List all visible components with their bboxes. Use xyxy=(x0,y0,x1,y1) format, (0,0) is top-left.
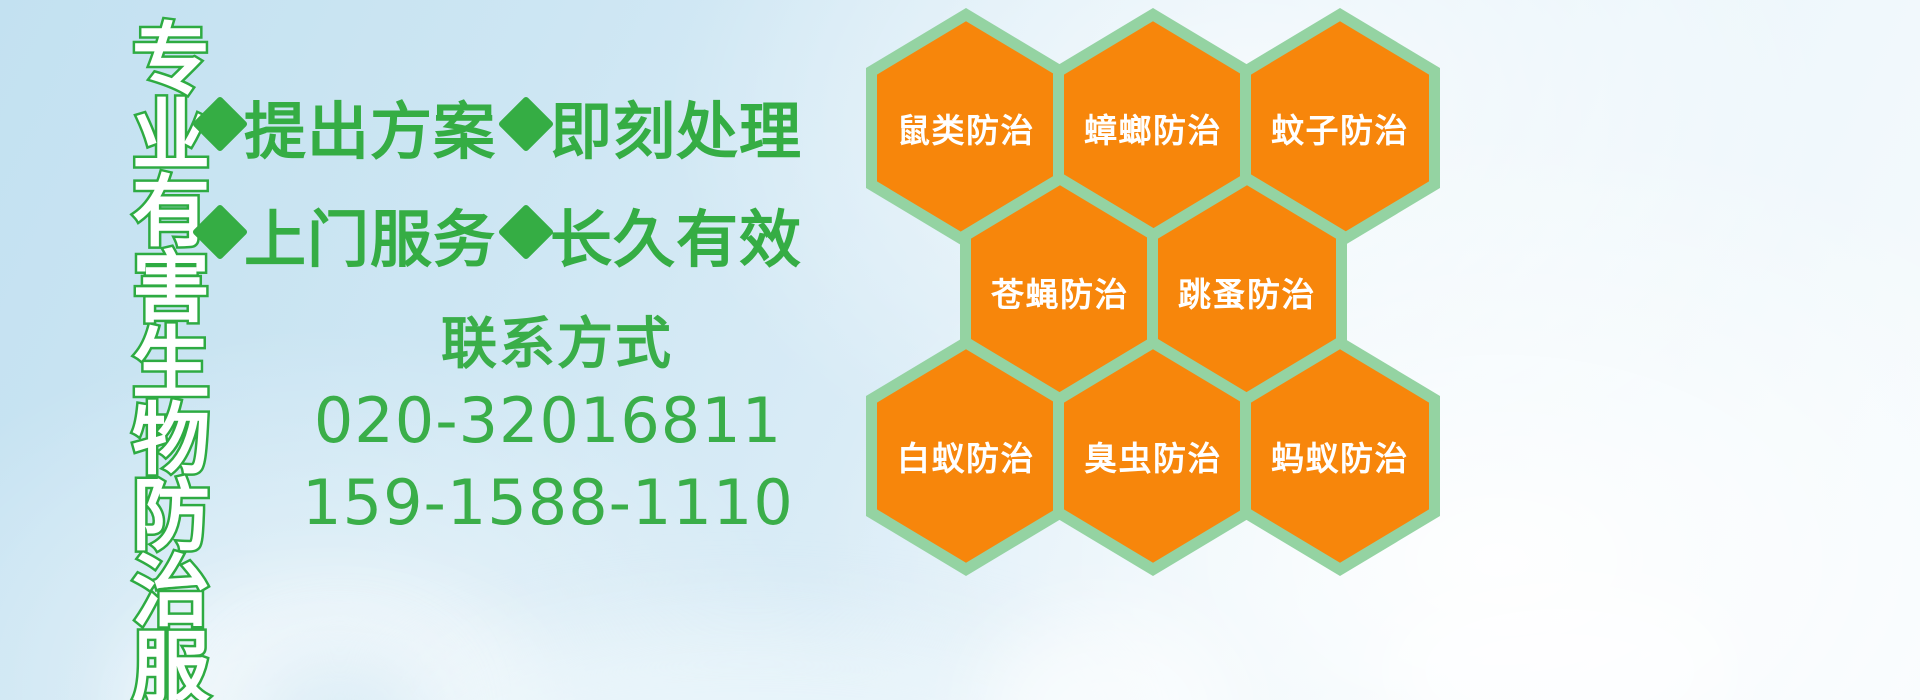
contact-title: 联系方式 xyxy=(246,310,868,380)
feature-item-immediate-handling: 即刻处理 xyxy=(534,101,802,163)
banner-stage: 专业有害生物防治服务 提出方案 即刻处理 上门服务 长久有效 联 xyxy=(0,0,1920,700)
feature-list: 提出方案 即刻处理 上门服务 长久有效 xyxy=(228,78,868,294)
phone-landline[interactable]: 020-32016811 xyxy=(228,380,868,462)
hexagon-label: 臭虫防治 xyxy=(1053,336,1253,576)
feature-item-propose-plan: 提出方案 xyxy=(228,101,496,163)
hex-termite-control[interactable]: 白蚁防治 xyxy=(866,336,1066,576)
vertical-headline: 专业有害生物防治服务 xyxy=(108,18,204,678)
contact-block: 联系方式 020-32016811 159-1588-1110 xyxy=(228,310,868,544)
phone-mobile[interactable]: 159-1588-1110 xyxy=(228,462,868,544)
feature-row: 提出方案 即刻处理 xyxy=(228,78,868,186)
background-glow-c xyxy=(980,610,1240,700)
hex-ant-control[interactable]: 蚂蚁防治 xyxy=(1240,336,1440,576)
feature-label: 提出方案 xyxy=(244,101,496,163)
feature-item-onsite-service: 上门服务 xyxy=(228,209,496,271)
feature-row: 上门服务 长久有效 xyxy=(228,186,868,294)
feature-label: 上门服务 xyxy=(244,209,496,271)
hex-bedbug-control[interactable]: 臭虫防治 xyxy=(1053,336,1253,576)
feature-label: 即刻处理 xyxy=(550,101,802,163)
background-glow-e xyxy=(400,620,1100,700)
hexagon-label: 蚂蚁防治 xyxy=(1240,336,1440,576)
feature-item-long-lasting: 长久有效 xyxy=(534,209,802,271)
feature-label: 长久有效 xyxy=(550,209,802,271)
background-glow-b xyxy=(250,650,430,700)
hexagon-label: 白蚁防治 xyxy=(866,336,1066,576)
background-glow-d xyxy=(1380,580,1740,700)
